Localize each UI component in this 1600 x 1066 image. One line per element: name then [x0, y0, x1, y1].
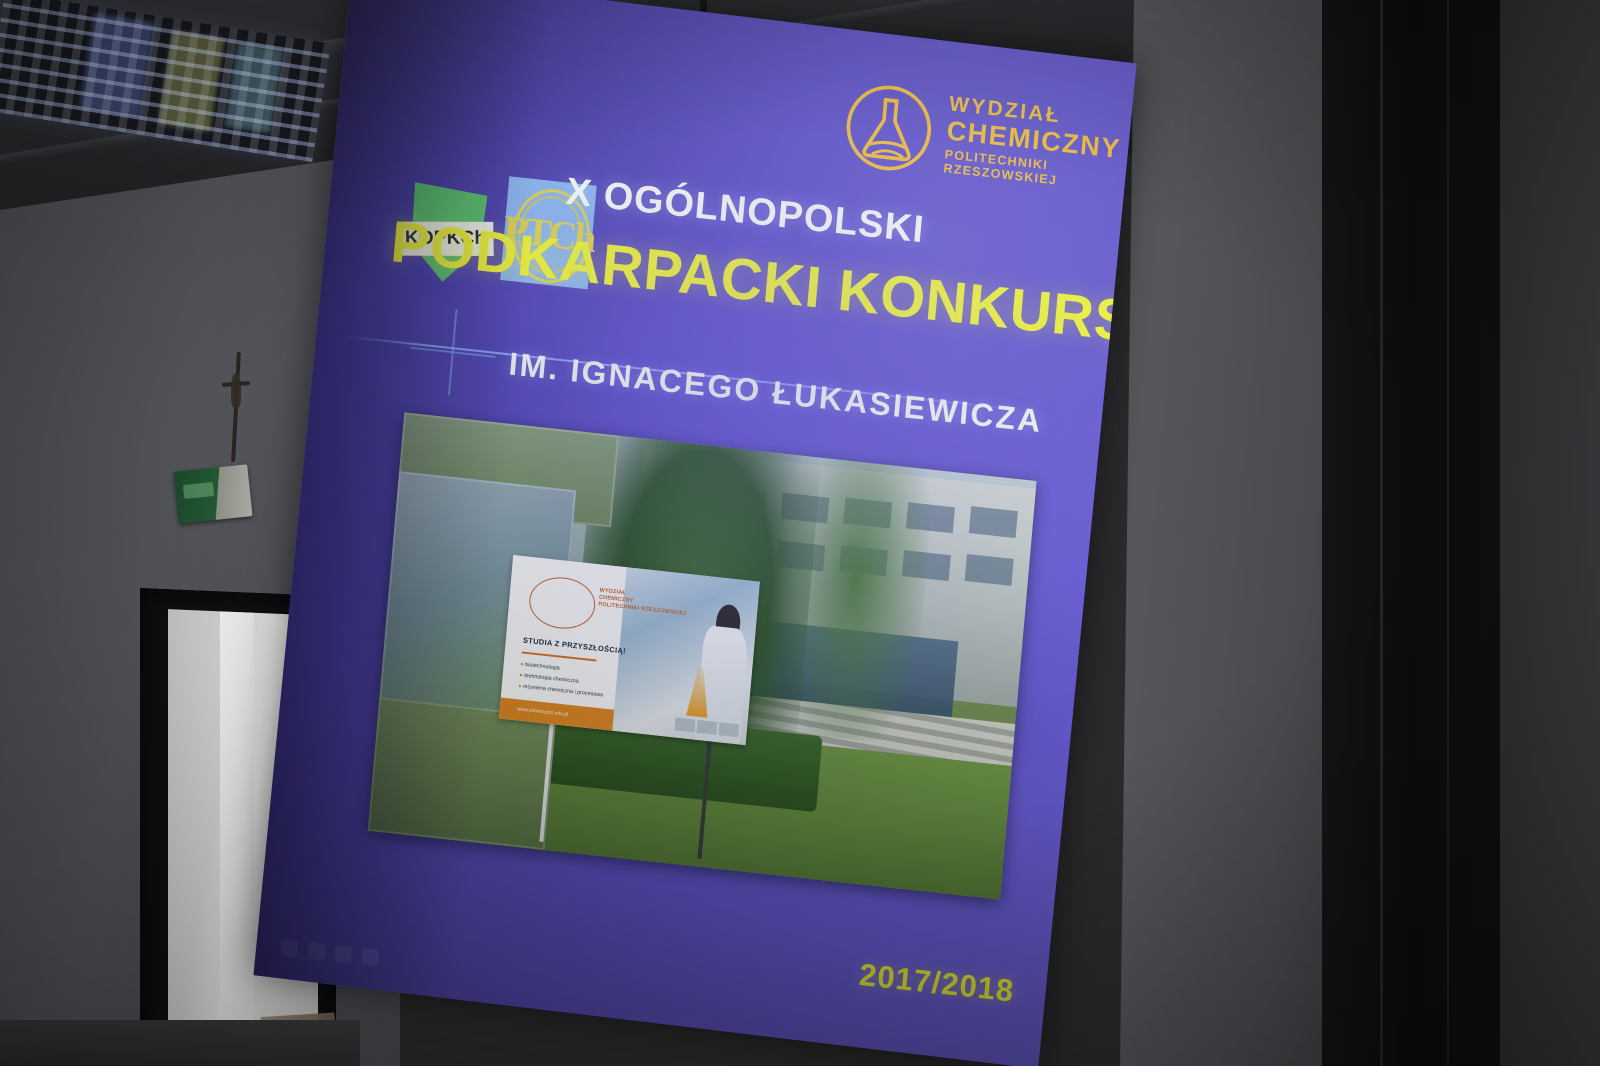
campus-billboard: WYDZIAŁ CHEMICZNY POLITECHNIKI RZESZOWSK…	[499, 555, 760, 745]
campus-photo: WYDZIAŁ CHEMICZNY POLITECHNIKI RZESZOWSK…	[368, 412, 1037, 899]
slide-subtitle: IM. IGNACEGO ŁUKASIEWICZA	[507, 345, 1044, 440]
faculty-logo: WYDZIAŁ CHEMICZNY POLITECHNIKI RZESZOWSK…	[838, 62, 1117, 213]
powerpoint-controls[interactable]	[280, 939, 379, 967]
slide-content: WYDZIAŁ CHEMICZNY POLITECHNIKI RZESZOWSK…	[258, 0, 1131, 1065]
ppt-pointer-button[interactable]	[307, 942, 325, 961]
ppt-prev-button[interactable]	[280, 939, 298, 958]
projection-screen: WYDZIAŁ CHEMICZNY POLITECHNIKI RZESZOWSK…	[253, 0, 1136, 1066]
screenshot-stage: WYDZIAŁ CHEMICZNY POLITECHNIKI RZESZOWSK…	[0, 0, 1600, 1066]
projection-screen-wrapper: WYDZIAŁ CHEMICZNY POLITECHNIKI RZESZOWSK…	[0, 0, 1600, 1066]
presentation-slide: WYDZIAŁ CHEMICZNY POLITECHNIKI RZESZOWSK…	[253, 0, 1136, 1066]
ppt-menu-button[interactable]	[334, 945, 352, 964]
slide-headline-main: PODKARPACKI KONKURS CHEMICZNY	[388, 208, 1136, 395]
faculty-logo-text: WYDZIAŁ CHEMICZNY POLITECHNIKI RZESZOWSK…	[943, 93, 1124, 194]
slide-year: 2017/2018	[858, 957, 1016, 1010]
cursor-crosshair-icon	[406, 305, 499, 400]
photo-trees-right	[772, 438, 937, 746]
ppt-next-button[interactable]	[361, 948, 379, 967]
flask-in-circle-icon	[839, 77, 938, 179]
